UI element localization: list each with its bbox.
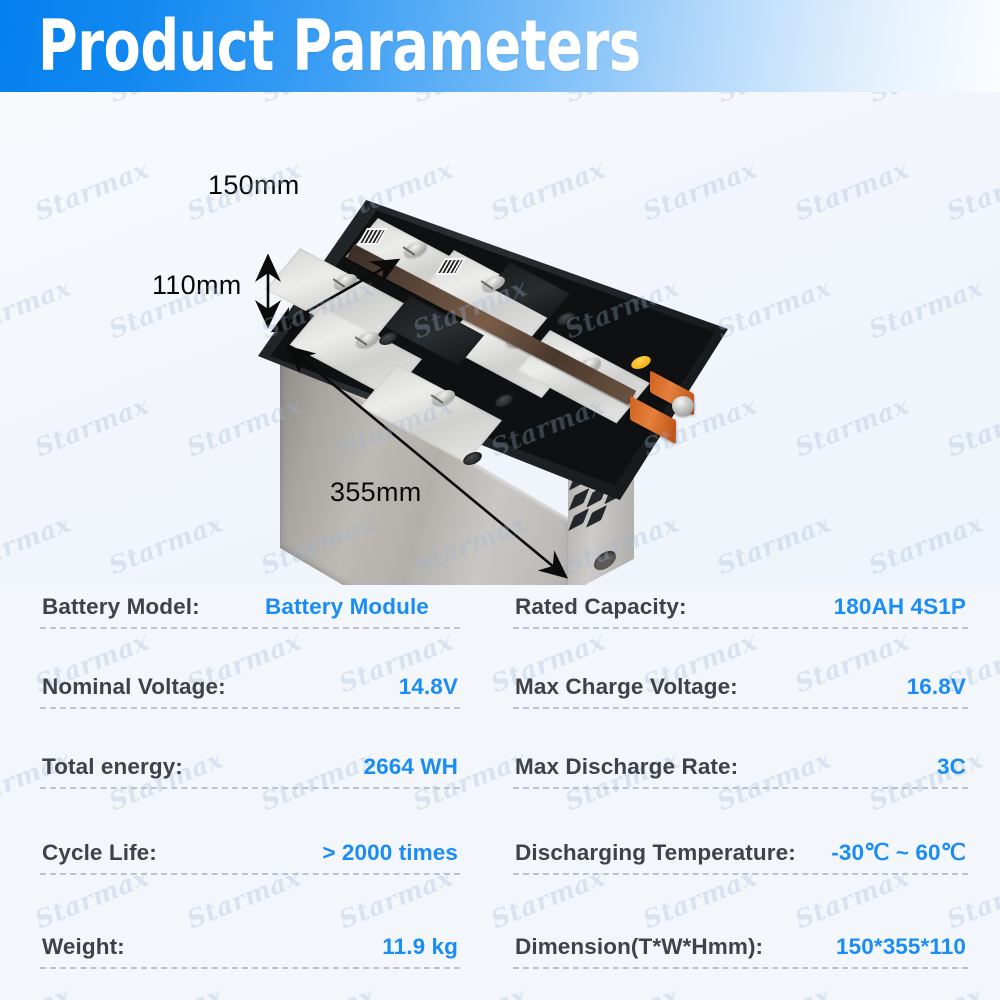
spec-value: 2664 WH bbox=[364, 754, 459, 780]
dimension-label-150mm: 150mm bbox=[208, 170, 300, 201]
page-title: Product Parameters bbox=[38, 4, 641, 88]
spec-label: Total energy: bbox=[42, 754, 183, 780]
page-header: Product Parameters bbox=[0, 0, 1000, 92]
spec-label: Max Discharge Rate: bbox=[515, 754, 738, 780]
spec-value: 180AH 4S1P bbox=[834, 594, 966, 620]
spec-row-divider bbox=[40, 873, 460, 875]
spec-row-divider bbox=[513, 627, 968, 629]
spec-value: -30℃ ~ 60℃ bbox=[831, 840, 966, 866]
spec-value: 16.8V bbox=[907, 674, 966, 700]
spec-row-divider bbox=[40, 787, 460, 789]
spec-row: Discharging Temperature:-30℃ ~ 60℃ bbox=[513, 831, 968, 875]
spec-row-divider bbox=[513, 967, 968, 969]
spec-value: 11.9 kg bbox=[382, 934, 458, 960]
spec-label: Nominal Voltage: bbox=[42, 674, 226, 700]
spec-row: Battery Model:Battery Module bbox=[40, 585, 460, 629]
product-parameters-page: 150mm 110mm 355mm StarmaxStarmaxStarmaxS… bbox=[0, 0, 1000, 1000]
module-cell-tops bbox=[258, 200, 728, 500]
spec-label: Cycle Life: bbox=[42, 840, 157, 866]
spec-label: Weight: bbox=[42, 934, 125, 960]
spec-row-divider bbox=[513, 787, 968, 789]
spec-label: Discharging Temperature: bbox=[515, 840, 796, 866]
spec-row-divider bbox=[40, 707, 460, 709]
product-photo-area: 150mm 110mm 355mm bbox=[0, 92, 1000, 585]
spec-value: 14.8V bbox=[399, 674, 458, 700]
spec-row: Rated Capacity:180AH 4S1P bbox=[513, 585, 968, 629]
dimension-label-355mm: 355mm bbox=[330, 477, 422, 508]
spec-value: 150*355*110 bbox=[836, 934, 966, 960]
spec-row-divider bbox=[40, 627, 460, 629]
spec-row: Total energy:2664 WH bbox=[40, 745, 460, 789]
spec-row-divider bbox=[513, 707, 968, 709]
specifications-table: Battery Model:Battery ModuleNominal Volt… bbox=[0, 585, 1000, 1000]
battery-module-photo bbox=[258, 200, 728, 585]
spec-row: Nominal Voltage:14.8V bbox=[40, 665, 460, 709]
spec-row: Dimension(T*W*Hmm):150*355*110 bbox=[513, 925, 968, 969]
spec-value: 3C bbox=[937, 754, 966, 780]
spec-label: Rated Capacity: bbox=[515, 594, 687, 620]
dimension-label-110mm: 110mm bbox=[152, 270, 242, 301]
spec-label: Max Charge Voltage: bbox=[515, 674, 738, 700]
module-terminal-bolt bbox=[672, 396, 694, 416]
spec-row-divider bbox=[513, 873, 968, 875]
spec-row: Max Discharge Rate:3C bbox=[513, 745, 968, 789]
spec-row-divider bbox=[40, 967, 460, 969]
spec-row: Cycle Life:> 2000 times bbox=[40, 831, 460, 875]
spec-label: Battery Model: bbox=[42, 594, 200, 620]
spec-row: Weight:11.9 kg bbox=[40, 925, 460, 969]
spec-label: Dimension(T*W*Hmm): bbox=[515, 934, 763, 960]
spec-value: Battery Module bbox=[265, 594, 429, 620]
spec-value: > 2000 times bbox=[322, 840, 458, 866]
spec-row: Max Charge Voltage:16.8V bbox=[513, 665, 968, 709]
